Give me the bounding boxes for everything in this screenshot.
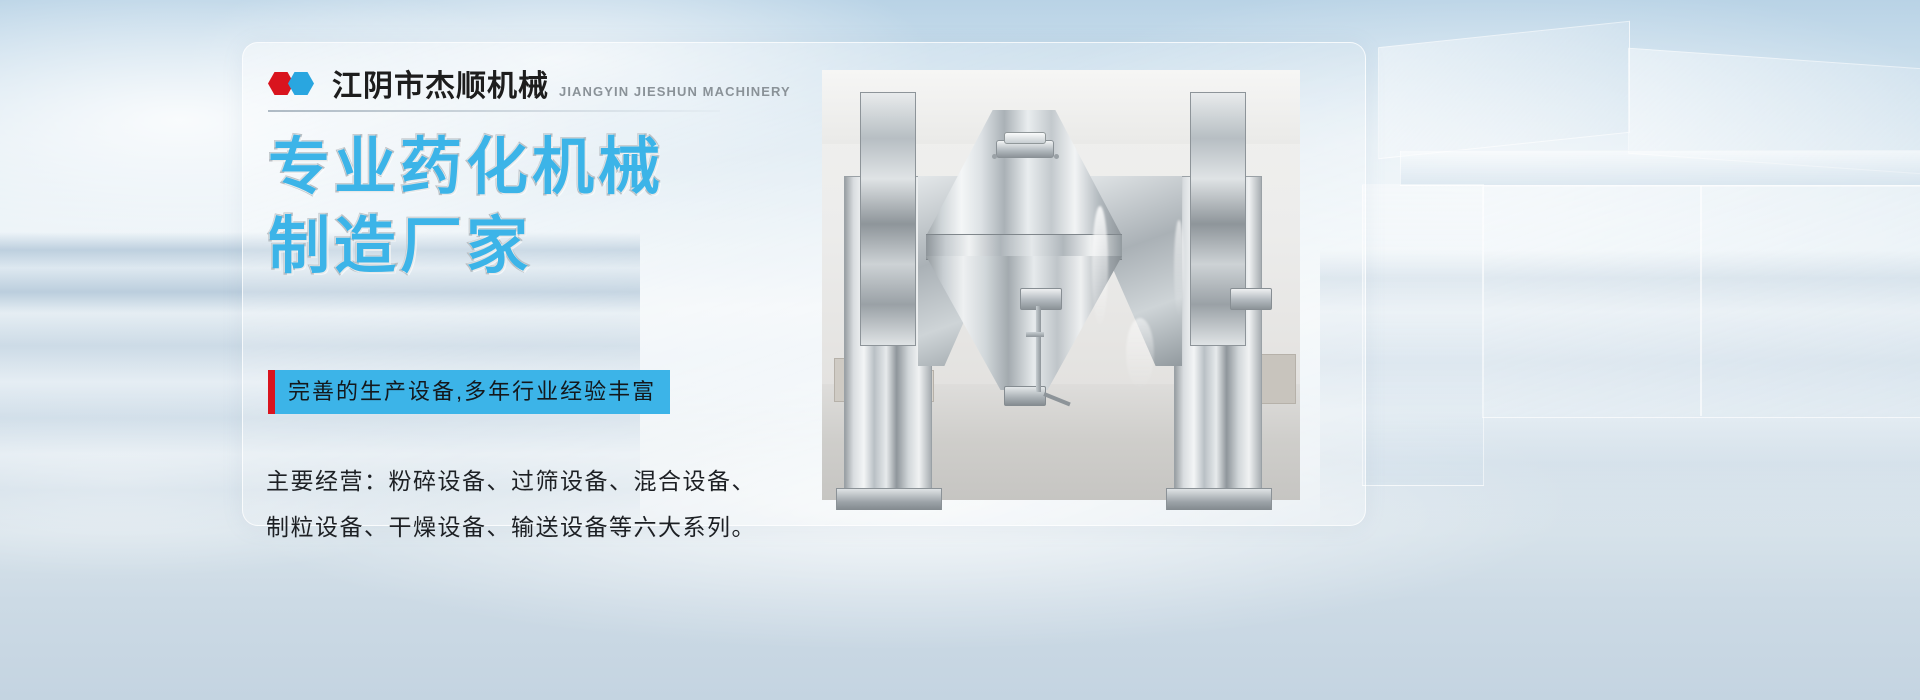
specular-highlight: [1126, 318, 1154, 388]
glass-panel-decor: [1362, 184, 1484, 486]
logo-divider: [268, 110, 720, 112]
machine-leg-inner-left: [860, 92, 916, 346]
body-line-1: 主要经营：粉碎设备、过筛设备、混合设备、: [266, 458, 786, 504]
blue-hexagon-icon: [288, 72, 314, 95]
body-line-2: 制粒设备、干燥设备、输送设备等六大系列。: [266, 504, 786, 550]
manway-cap-icon: [1004, 132, 1046, 144]
hexagon-logo-icon: [268, 68, 322, 98]
machine-base-right: [1166, 488, 1272, 510]
machine-pipe: [1036, 306, 1041, 392]
glass-panel-decor: [1400, 150, 1920, 186]
trunnion-shaft-left: [1020, 288, 1062, 310]
glass-panel-decor: [1700, 186, 1702, 416]
cone-upper: [926, 110, 1122, 236]
manway-bolt: [1054, 154, 1059, 159]
tagline-bar: 完善的生产设备,多年行业经验丰富: [268, 370, 670, 414]
machine-pipe: [1026, 332, 1044, 337]
double-cone-vessel: [926, 110, 1122, 396]
brand-logo[interactable]: 江阴市杰顺机械 JIANGYIN JIESHUN MACHINERY: [268, 68, 791, 102]
brand-name-cn: 江阴市杰顺机械: [332, 72, 549, 102]
tagline-text: 完善的生产设备,多年行业经验丰富: [275, 370, 670, 414]
product-photo: [800, 58, 1320, 510]
promo-banner: 江阴市杰顺机械 JIANGYIN JIESHUN MACHINERY 专业药化机…: [0, 0, 1920, 700]
machine-base-left: [836, 488, 942, 510]
specular-highlight: [1092, 206, 1108, 326]
manway-bolt: [992, 154, 997, 159]
specular-highlight: [1174, 220, 1184, 316]
body-copy: 主要经营：粉碎设备、过筛设备、混合设备、 制粒设备、干燥设备、输送设备等六大系列…: [266, 458, 786, 550]
brand-name-en: JIANGYIN JIESHUN MACHINERY: [559, 85, 791, 98]
tagline-accent-bar: [268, 370, 275, 414]
trunnion-shaft-right: [1230, 288, 1272, 310]
